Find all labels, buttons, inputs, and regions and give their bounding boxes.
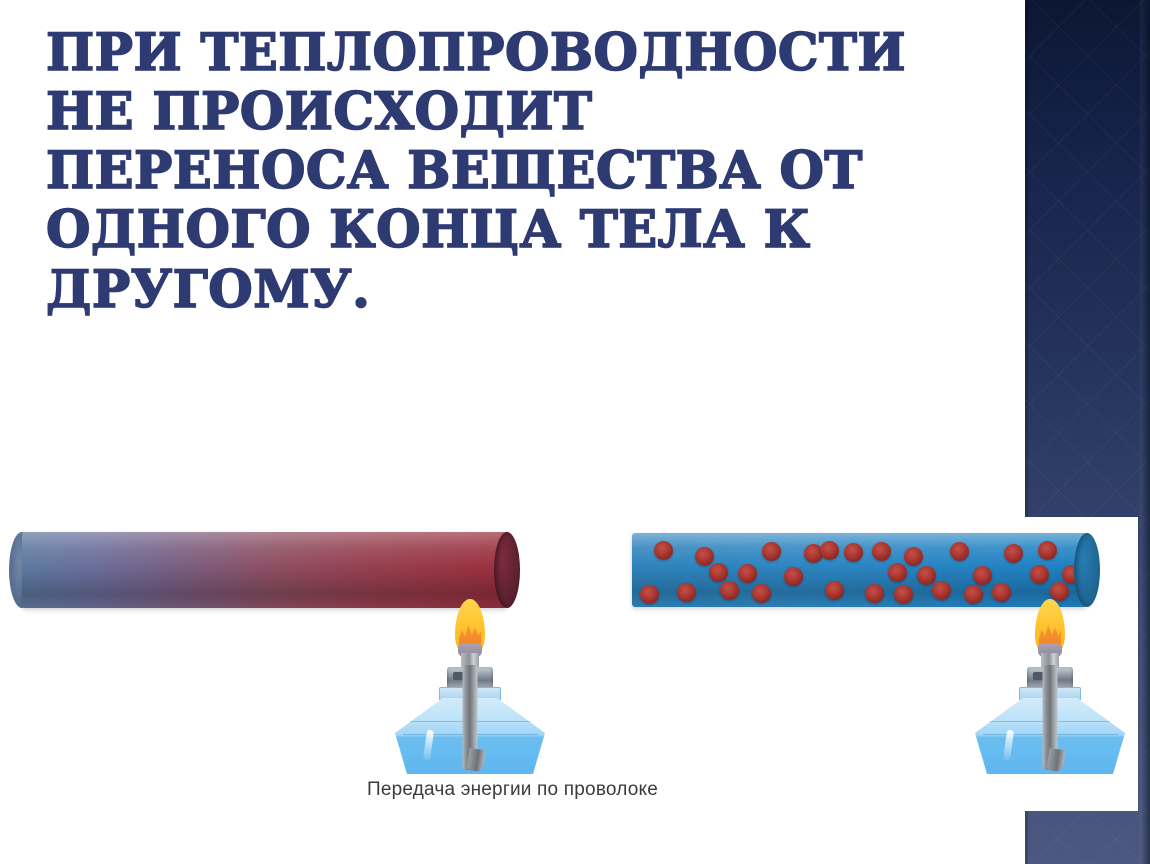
molecule-layer (632, 533, 1087, 607)
rod-left-body (22, 532, 507, 608)
molecule-particle (695, 547, 714, 566)
molecule-particle (865, 584, 884, 603)
illustration-image (0, 517, 1138, 811)
molecule-particle (720, 581, 739, 600)
molecule-particle (677, 583, 696, 602)
slide-canvas: ПРИ ТЕПЛОПРОВОДНОСТИ НЕ ПРОИСХОДИТ ПЕРЕН… (0, 0, 1150, 864)
spirit-lamp-right (975, 599, 1125, 774)
molecule-particle (738, 564, 757, 583)
molecule-particle (973, 566, 992, 585)
rod-right-end-cap (1074, 533, 1100, 607)
flame-icon (455, 599, 485, 657)
molecule-particle (894, 585, 913, 604)
band-right-edge (1140, 0, 1150, 864)
heated-rod-gradient (22, 532, 507, 608)
molecule-particle (844, 543, 863, 562)
slide-title: ПРИ ТЕПЛОПРОВОДНОСТИ НЕ ПРОИСХОДИТ ПЕРЕН… (46, 24, 946, 320)
molecule-particle (904, 547, 923, 566)
flame-icon (1035, 599, 1065, 657)
molecule-particle (784, 567, 803, 586)
molecule-particle (825, 581, 844, 600)
molecule-particle (872, 542, 891, 561)
molecule-particle (820, 541, 839, 560)
molecule-particle (709, 563, 728, 582)
molecule-particle (640, 585, 659, 604)
molecule-particle (654, 541, 673, 560)
molecule-particle (1004, 544, 1023, 563)
molecule-particle (932, 581, 951, 600)
molecular-rod (632, 533, 1087, 607)
molecule-particle (762, 542, 781, 561)
molecule-particle (1038, 541, 1057, 560)
molecule-particle (917, 566, 936, 585)
molecule-particle (1030, 565, 1049, 584)
rod-left-hot-cap (494, 532, 520, 608)
molecule-particle (888, 563, 907, 582)
molecule-particle (950, 542, 969, 561)
molecule-particle (752, 584, 771, 603)
spirit-lamp-left (395, 599, 545, 774)
illustration-caption: Передача энергии по проволоке (0, 779, 1025, 801)
